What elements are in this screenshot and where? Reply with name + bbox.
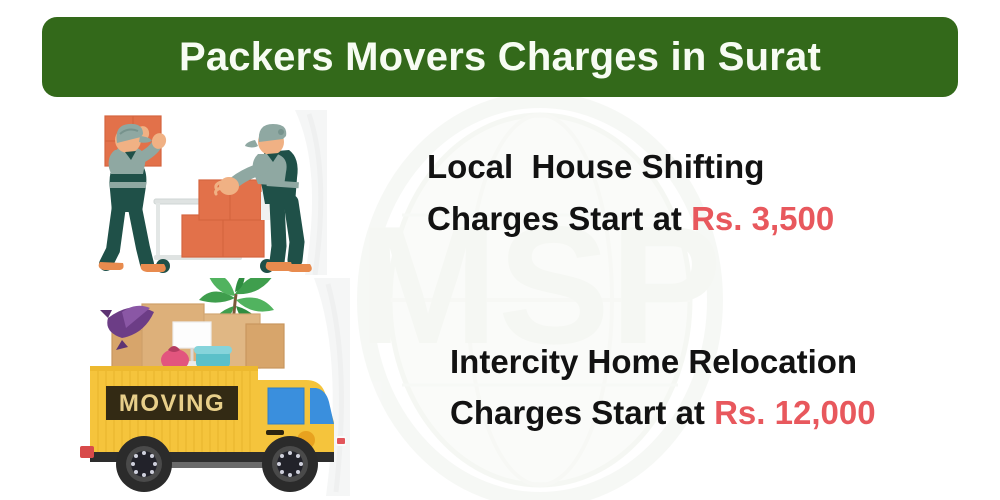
header-banner: Packers Movers Charges in Surat bbox=[42, 17, 958, 97]
row-local-house-shifting: Local House Shifting Charges Start at Rs… bbox=[95, 110, 965, 275]
local-headline: Local House Shifting bbox=[427, 141, 965, 192]
local-copy-block: Local House Shifting Charges Start at Rs… bbox=[327, 141, 965, 243]
movers-illustration bbox=[95, 110, 327, 275]
intercity-price-prefix: Charges Start at bbox=[450, 394, 714, 431]
row-intercity-home-relocation: MOVING bbox=[78, 278, 968, 496]
local-price-value: Rs. 3,500 bbox=[691, 200, 834, 237]
local-price-line: Charges Start at Rs. 3,500 bbox=[427, 193, 965, 244]
moving-truck-illustration: MOVING bbox=[78, 278, 350, 496]
page-title: Packers Movers Charges in Surat bbox=[179, 37, 821, 77]
truck-banner-label: MOVING bbox=[119, 390, 225, 417]
intercity-copy-block: Intercity Home Relocation Charges Start … bbox=[350, 336, 968, 438]
local-price-prefix: Charges Start at bbox=[427, 200, 691, 237]
intercity-price-value: Rs. 12,000 bbox=[714, 394, 875, 431]
intercity-headline: Intercity Home Relocation bbox=[450, 336, 968, 387]
intercity-price-line: Charges Start at Rs. 12,000 bbox=[450, 387, 968, 438]
infographic-canvas: MSP Packers Movers Charges in Surat bbox=[0, 0, 1000, 500]
cargo-items bbox=[100, 278, 284, 371]
